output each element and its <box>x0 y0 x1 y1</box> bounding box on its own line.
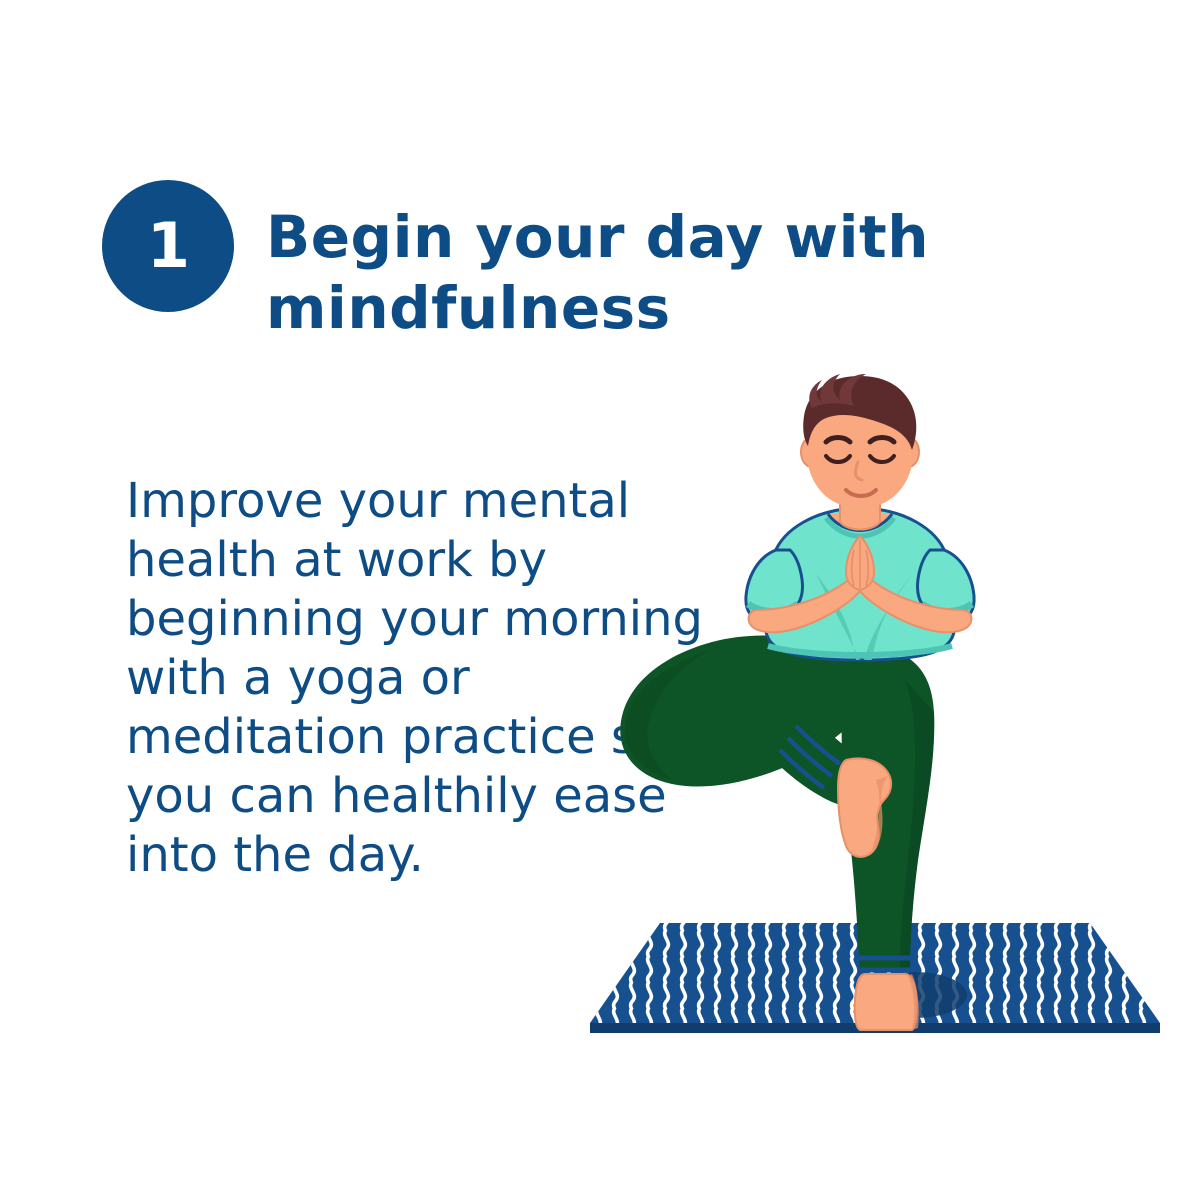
head <box>801 374 919 530</box>
card-header: 1 Begin your day with mindfulness <box>102 180 1022 382</box>
standing-foot <box>855 974 919 1030</box>
tip-card: 1 Begin your day with mindfulness Improv… <box>0 0 1200 1200</box>
standing-foot-shape <box>855 974 917 1030</box>
yoga-illustration-svg <box>560 360 1200 1050</box>
yoga-illustration <box>560 360 1200 1050</box>
raised-leg <box>620 635 875 806</box>
step-number-label: 1 <box>147 215 189 277</box>
page-title: Begin your day with mindfulness <box>266 202 1006 344</box>
step-number-badge: 1 <box>102 180 234 312</box>
